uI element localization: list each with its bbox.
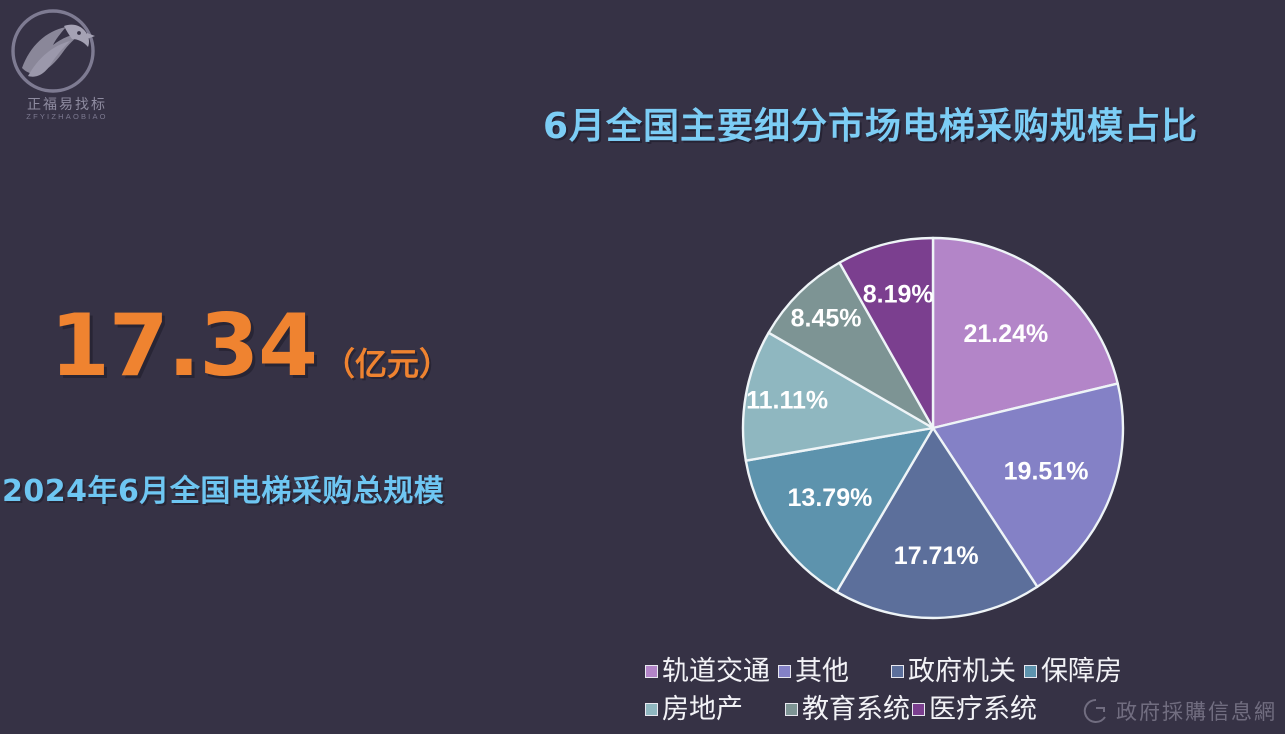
kpi-unit: （亿元） bbox=[323, 345, 451, 383]
pie-slice-label: 8.19% bbox=[863, 280, 934, 308]
pie-slice-label: 13.79% bbox=[788, 484, 873, 512]
legend-swatch-icon bbox=[891, 665, 904, 678]
legend-swatch-icon bbox=[778, 665, 791, 678]
pie-slice-label: 17.71% bbox=[894, 542, 979, 570]
legend-label: 保障房 bbox=[1041, 658, 1122, 685]
kpi-block: 17.34（亿元） bbox=[50, 296, 451, 396]
brand-name-cn: 正福易找标 bbox=[12, 94, 122, 114]
site-watermark: 政府採購信息網 bbox=[1083, 696, 1277, 726]
pie-slice-label: 8.45% bbox=[791, 305, 862, 333]
page-title: 6月全国主要细分市场电梯采购规模占比 bbox=[543, 97, 1198, 149]
brand-logo: 正福易找标 ZFYIZHAOBIAO bbox=[8, 6, 126, 124]
legend-label: 政府机关 bbox=[908, 658, 1016, 685]
kpi-caption: 2024年6月全国电梯采购总规模 bbox=[2, 466, 444, 510]
legend-swatch-icon bbox=[645, 665, 658, 678]
brand-name-en: ZFYIZHAOBIAO bbox=[12, 112, 122, 121]
legend-item[interactable]: 其他 bbox=[778, 658, 849, 685]
legend-item[interactable]: 轨道交通 bbox=[645, 658, 770, 685]
legend-label: 轨道交通 bbox=[662, 658, 770, 685]
legend-label: 教育系统 bbox=[802, 696, 910, 723]
pie-slice-label: 11.11% bbox=[746, 387, 828, 415]
legend-swatch-icon bbox=[645, 703, 658, 716]
legend-item[interactable]: 医疗系统 bbox=[912, 696, 1037, 723]
legend-label: 其他 bbox=[795, 658, 849, 685]
kpi-value: 17.34 bbox=[50, 296, 317, 396]
g-circle-icon bbox=[1083, 698, 1109, 724]
legend-item[interactable]: 政府机关 bbox=[891, 658, 1016, 685]
pie-slice-label: 21.24% bbox=[964, 320, 1049, 348]
legend-item[interactable]: 保障房 bbox=[1024, 658, 1122, 685]
legend-label: 医疗系统 bbox=[929, 696, 1037, 723]
infographic-page: 正福易找标 ZFYIZHAOBIAO 6月全国主要细分市场电梯采购规模占比 17… bbox=[0, 0, 1285, 734]
legend-item[interactable]: 房地产 bbox=[645, 696, 743, 723]
legend-item[interactable]: 教育系统 bbox=[785, 696, 910, 723]
legend-label: 房地产 bbox=[662, 696, 743, 723]
pie-chart-svg: 21.24%19.51%17.71%13.79%11.11%8.45%8.19% bbox=[738, 233, 1128, 623]
eagle-in-circle-logo-icon bbox=[8, 6, 98, 96]
pie-chart: 21.24%19.51%17.71%13.79%11.11%8.45%8.19% bbox=[738, 233, 1128, 623]
legend-swatch-icon bbox=[785, 703, 798, 716]
legend-row-1: 轨道交通其他政府机关保障房 bbox=[645, 652, 1205, 690]
pie-slice-label: 19.51% bbox=[1004, 457, 1089, 485]
legend-swatch-icon bbox=[912, 703, 925, 716]
watermark-text: 政府採購信息網 bbox=[1116, 696, 1277, 726]
legend-swatch-icon bbox=[1024, 665, 1037, 678]
